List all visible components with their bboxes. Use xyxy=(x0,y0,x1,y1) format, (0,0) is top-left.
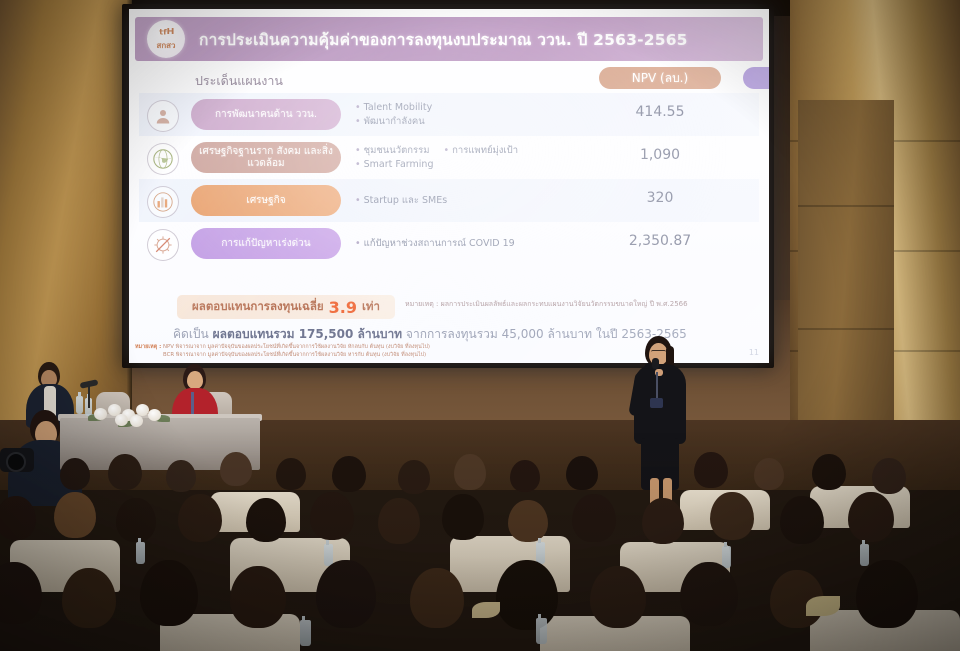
side-note: หมายเหตุ : ผลการประเมินผลลัพธ์และผลกระทบ… xyxy=(405,300,765,309)
no-virus-icon xyxy=(147,229,179,261)
table-row: เศรษฐกิจ Startup และ SMEs 320 8.75 xyxy=(139,179,759,222)
footnote-label: หมายเหตุ : xyxy=(135,344,161,350)
total-highlight: ผลตอบแทนรวม 175,500 ล้านบาท xyxy=(213,327,403,341)
row-category: การแก้ปัญหาเร่งด่วน xyxy=(191,228,341,259)
row-npv-value: 2,350.87 xyxy=(599,233,721,249)
water-bottle xyxy=(76,396,83,414)
row-category: การพัฒนาคนด้าน ววน. xyxy=(191,99,341,130)
total-return-line: คิดเป็น ผลตอบแทนรวม 175,500 ล้านบาท จากก… xyxy=(173,325,759,344)
average-return-label: ผลตอบแทนการลงทุนเฉลี่ย xyxy=(192,298,324,316)
bullet-item: Talent Mobility xyxy=(355,101,432,114)
presentation-photo-scene: ᵗᶠᴴ สกสว การประเมินความคุ้มค่าของการลงทุ… xyxy=(0,0,960,651)
organization-logo: ᵗᶠᴴ สกสว xyxy=(147,20,185,58)
logo-mark-icon: ᵗᶠᴴ xyxy=(159,29,174,41)
row-bullets: ชุมชนนวัตกรรม การแพทย์มุ่งเป้า Smart Far… xyxy=(355,142,595,173)
row-bcr-value: 8.71 xyxy=(743,104,769,120)
lanyard xyxy=(656,372,658,400)
slide-table: ประเด็นแผนงาน NPV (ลบ.) BCR การพัฒนาคนด้… xyxy=(139,67,759,323)
bullet-item: Startup และ SMEs xyxy=(355,194,447,207)
row-npv-value: 1,090 xyxy=(599,147,721,163)
average-return-value: 3.9 xyxy=(329,298,357,317)
slide-number: 11 xyxy=(749,348,759,357)
column-header-npv: NPV (ลบ.) xyxy=(599,67,721,89)
projector-screen: ᵗᶠᴴ สกสว การประเมินความคุ้มค่าของการลงทุ… xyxy=(129,9,769,363)
row-category: เศรษฐกิจ xyxy=(191,185,341,216)
handheld-microphone xyxy=(652,358,659,369)
column-header-topic: ประเด็นแผนงาน xyxy=(195,71,283,91)
row-npv-value: 414.55 xyxy=(599,104,721,120)
table-row: การพัฒนาคนด้าน ววน. Talent Mobility พัฒน… xyxy=(139,93,759,136)
presentation-slide: ᵗᶠᴴ สกสว การประเมินความคุ้มค่าของการลงทุ… xyxy=(129,9,769,363)
water-bottle xyxy=(536,618,547,644)
table-row: การแก้ปัญหาเร่งด่วน แก้ปัญหาช่วงสถานการณ… xyxy=(139,222,759,265)
row-bullets: แก้ปัญหาช่วงสถานการณ์ COVID 19 xyxy=(355,228,595,259)
total-suffix: ในปี 2563-2565 xyxy=(596,327,687,341)
row-npv-value: 320 xyxy=(599,190,721,206)
slide-title: การประเมินความคุ้มค่าของการลงทุนงบประมาณ… xyxy=(199,27,688,52)
table-row: เศรษฐกิจฐานราก สังคม และสิ่งแวดล้อม ชุมช… xyxy=(139,136,759,179)
globe-icon xyxy=(147,143,179,175)
row-bullets: Talent Mobility พัฒนากำลังคน xyxy=(355,99,595,130)
slide-footnote: หมายเหตุ : NPV พิจารณาจาก มูลค่าปัจจุบัน… xyxy=(135,344,535,359)
row-bullets: Startup และ SMEs xyxy=(355,185,595,216)
side-door-panel xyxy=(798,100,894,440)
average-return-unit: เท่า xyxy=(362,298,380,316)
hair-bow xyxy=(806,596,840,616)
flower-arrangement xyxy=(88,400,174,426)
total-prefix: คิดเป็น xyxy=(173,327,209,341)
logo-name: สกสว xyxy=(156,41,175,50)
average-return-box: ผลตอบแทนการลงทุนเฉลี่ย 3.9 เท่า xyxy=(177,295,395,319)
bullet-item: พัฒนากำลังคน xyxy=(355,115,595,128)
wall-panel-left xyxy=(0,0,132,430)
total-middle: จากการลงทุนรวม 45,000 ล้านบาท xyxy=(406,327,592,341)
badge xyxy=(650,398,663,408)
bar-chart-globe-icon xyxy=(147,186,179,218)
audience-row-near xyxy=(0,560,960,651)
footnote-line: NPV พิจารณาจาก มูลค่าปัจจุบันของผลประโยช… xyxy=(163,344,430,350)
row-bcr-value: 8.75 xyxy=(743,190,769,206)
footnote-line: BCR พิจารณาจาก มูลค่าปัจจุบันของผลประโยช… xyxy=(163,352,426,358)
person-icon xyxy=(147,100,179,132)
hair-bow xyxy=(472,602,500,618)
row-bcr-value: 3.45 xyxy=(743,233,769,249)
row-category: เศรษฐกิจฐานราก สังคม และสิ่งแวดล้อม xyxy=(191,142,341,173)
bullet-item: แก้ปัญหาช่วงสถานการณ์ COVID 19 xyxy=(355,237,515,250)
table-header-row: ประเด็นแผนงาน NPV (ลบ.) BCR xyxy=(139,67,759,93)
bullet-item: ชุมชนนวัตกรรม xyxy=(355,144,430,157)
water-bottle xyxy=(300,620,311,646)
slide-header-bar: ᵗᶠᴴ สกสว การประเมินความคุ้มค่าของการลงทุ… xyxy=(135,17,763,61)
bullet-item: การแพทย์มุ่งเป้า xyxy=(444,144,519,157)
row-bcr-value: 3.81 xyxy=(743,147,769,163)
column-header-bcr: BCR xyxy=(743,67,769,89)
bullet-item: Smart Farming xyxy=(355,158,595,171)
